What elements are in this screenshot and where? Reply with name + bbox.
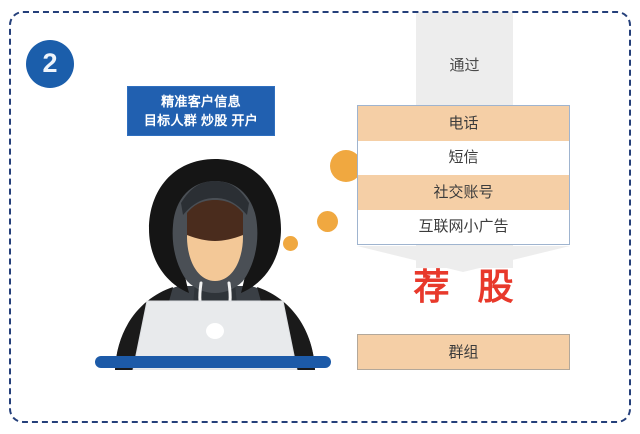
group-chat-box: 群组 <box>357 334 570 370</box>
desk-bar <box>95 356 331 368</box>
coin-dot-medium-icon <box>317 211 338 232</box>
stock-recommendation-headline: 荐 股 <box>357 268 570 306</box>
channel-row: 电话 <box>358 106 569 141</box>
caption-line-1: 精准客户信息 <box>161 93 241 111</box>
contact-channel-list: 电话 短信 社交账号 互联网小广告 <box>357 105 570 245</box>
hooded-hacker-illustration <box>95 155 335 370</box>
channel-row: 社交账号 <box>358 175 569 210</box>
step-number-text: 2 <box>42 50 57 77</box>
coin-dot-small-icon <box>283 236 298 251</box>
channel-label: 短信 <box>448 150 478 165</box>
step-number-badge: 2 <box>26 40 74 88</box>
channel-label: 互联网小广告 <box>418 219 508 234</box>
caption-line-2: 目标人群 炒股 开户 <box>144 112 258 130</box>
channel-label: 社交账号 <box>433 185 493 200</box>
target-info-caption-box: 精准客户信息 目标人群 炒股 开户 <box>127 86 275 136</box>
channel-row: 互联网小广告 <box>358 210 569 245</box>
channel-row: 短信 <box>358 141 569 176</box>
infographic-canvas: 通过 2 精准客户信息 目标人群 炒股 开户 <box>0 0 640 434</box>
channel-label: 电话 <box>448 116 478 131</box>
